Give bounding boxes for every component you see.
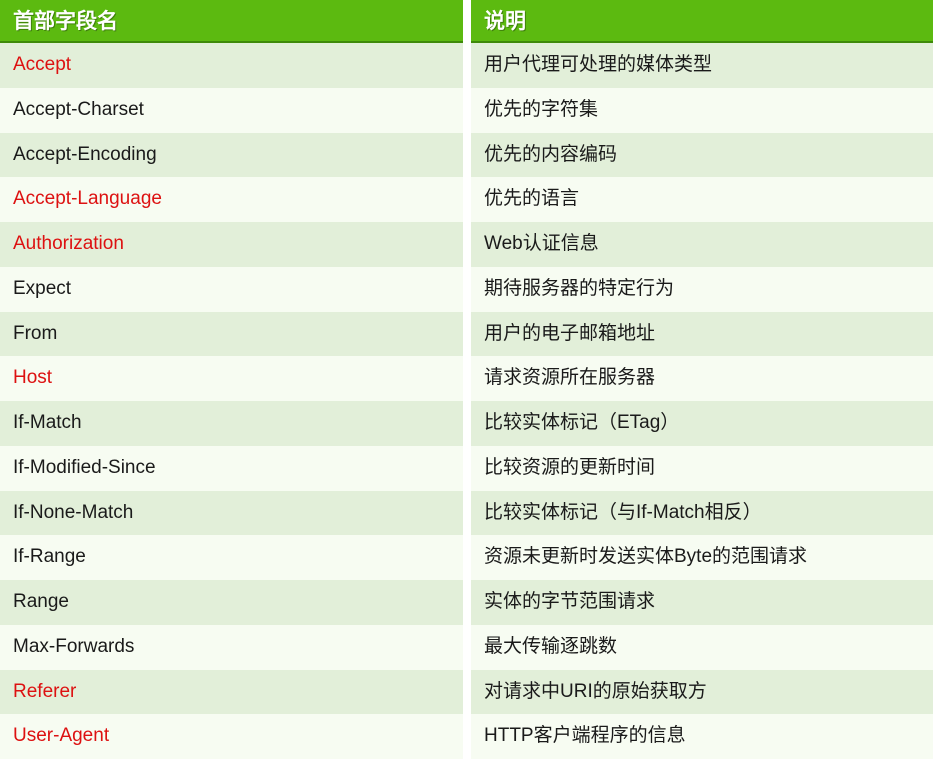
cell-description: 优先的内容编码: [471, 133, 933, 178]
cell-field-name: If-None-Match: [0, 491, 463, 536]
table-row: If-None-Match比较实体标记（与If-Match相反）: [0, 491, 933, 536]
cell-description: 比较实体标记（与If-Match相反）: [471, 491, 933, 536]
cell-description: 对请求中URI的原始获取方: [471, 670, 933, 715]
table-body: Accept用户代理可处理的媒体类型Accept-Charset优先的字符集Ac…: [0, 43, 933, 759]
cell-field-name: Accept-Language: [0, 177, 463, 222]
table-row: Accept用户代理可处理的媒体类型: [0, 43, 933, 88]
cell-description: 请求资源所在服务器: [471, 356, 933, 401]
table-row: From用户的电子邮箱地址: [0, 312, 933, 357]
cell-description: 用户代理可处理的媒体类型: [471, 43, 933, 88]
table-row: Range实体的字节范围请求: [0, 580, 933, 625]
table-row: If-Range资源未更新时发送实体Byte的范围请求: [0, 535, 933, 580]
cell-description: 期待服务器的特定行为: [471, 267, 933, 312]
table-row: Host请求资源所在服务器: [0, 356, 933, 401]
cell-field-name: Referer: [0, 670, 463, 715]
cell-field-name: Accept: [0, 43, 463, 88]
cell-field-name: From: [0, 312, 463, 357]
column-header-field-name: 首部字段名: [0, 0, 463, 43]
cell-field-name: Expect: [0, 267, 463, 312]
cell-description: Web认证信息: [471, 222, 933, 267]
cell-field-name: Authorization: [0, 222, 463, 267]
table-row: Max-Forwards最大传输逐跳数: [0, 625, 933, 670]
table-row: Referer对请求中URI的原始获取方: [0, 670, 933, 715]
cell-field-name: User-Agent: [0, 714, 463, 759]
table-row: If-Match比较实体标记（ETag）: [0, 401, 933, 446]
cell-field-name: Accept-Charset: [0, 88, 463, 133]
cell-description: 比较实体标记（ETag）: [471, 401, 933, 446]
cell-description: 优先的字符集: [471, 88, 933, 133]
cell-field-name: If-Match: [0, 401, 463, 446]
http-request-header-table: 首部字段名 说明 Accept用户代理可处理的媒体类型Accept-Charse…: [0, 0, 933, 759]
cell-field-name: Max-Forwards: [0, 625, 463, 670]
table-row: Accept-Charset优先的字符集: [0, 88, 933, 133]
table-header-row: 首部字段名 说明: [0, 0, 933, 43]
table-row: Accept-Language优先的语言: [0, 177, 933, 222]
table-row: User-AgentHTTP客户端程序的信息: [0, 714, 933, 759]
cell-description: 比较资源的更新时间: [471, 446, 933, 491]
cell-description: 用户的电子邮箱地址: [471, 312, 933, 357]
cell-field-name: Accept-Encoding: [0, 133, 463, 178]
cell-description: 优先的语言: [471, 177, 933, 222]
cell-field-name: Range: [0, 580, 463, 625]
table-row: Expect期待服务器的特定行为: [0, 267, 933, 312]
cell-field-name: If-Range: [0, 535, 463, 580]
cell-description: 最大传输逐跳数: [471, 625, 933, 670]
cell-description: 实体的字节范围请求: [471, 580, 933, 625]
cell-field-name: Host: [0, 356, 463, 401]
cell-field-name: If-Modified-Since: [0, 446, 463, 491]
cell-description: HTTP客户端程序的信息: [471, 714, 933, 759]
table-row: Accept-Encoding优先的内容编码: [0, 133, 933, 178]
table-row: If-Modified-Since比较资源的更新时间: [0, 446, 933, 491]
cell-description: 资源未更新时发送实体Byte的范围请求: [471, 535, 933, 580]
table-row: AuthorizationWeb认证信息: [0, 222, 933, 267]
column-header-description: 说明: [471, 0, 933, 43]
